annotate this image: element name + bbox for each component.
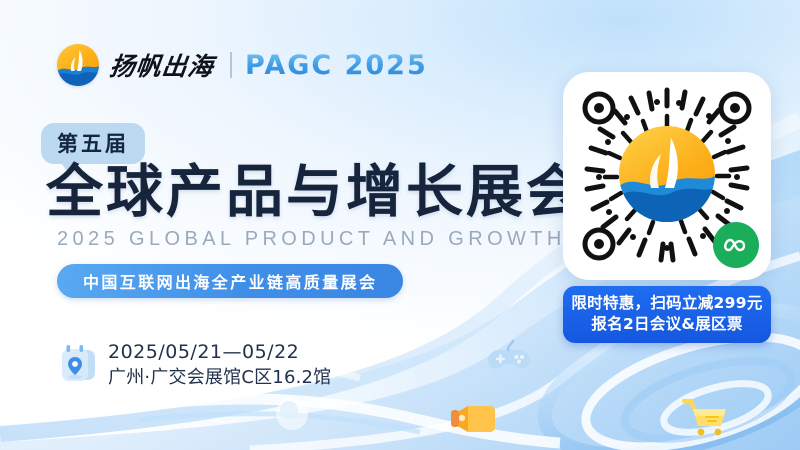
event-code: PAGC 2025 xyxy=(245,50,428,81)
promo-banner[interactable]: 限时特惠，扫码立减299元 报名2日会议&展区票 xyxy=(563,286,771,343)
promo-line-2: 报名2日会议&展区票 xyxy=(563,314,771,335)
tagline-pill: 中国互联网出海全产业链高质量展会 xyxy=(57,264,403,298)
qr-code-card[interactable] xyxy=(563,72,771,280)
event-dates: 2025/05/21—05/22 xyxy=(108,340,331,365)
wechat-mini-program-icon xyxy=(713,222,759,268)
brand-name-cn: 扬帆出海 xyxy=(108,47,216,83)
event-info-block: 2025/05/21—05/22 广州·广交会展馆C区16.2馆 xyxy=(58,340,331,390)
price-tag-icon xyxy=(448,402,498,436)
edition-badge: 第五届 xyxy=(41,123,145,164)
sailboat-sun-logo-icon xyxy=(57,44,99,86)
event-venue: 广州·广交会展馆C区16.2馆 xyxy=(108,365,331,390)
game-controller-icon xyxy=(486,340,532,376)
qr-center-sailboat-logo-icon xyxy=(619,126,715,222)
shopping-cart-icon xyxy=(682,398,730,438)
brand-header: 扬帆出海 PAGC 2025 xyxy=(57,41,428,89)
promo-line-1: 限时特惠，扫码立减299元 xyxy=(563,293,771,314)
page-title: 全球产品与增长展会 xyxy=(46,160,586,224)
calendar-location-icon xyxy=(58,343,98,387)
header-divider xyxy=(230,52,232,78)
event-poster: 扬帆出海 PAGC 2025 第五届 全球产品与增长展会 2025 GLOBAL… xyxy=(0,0,800,450)
